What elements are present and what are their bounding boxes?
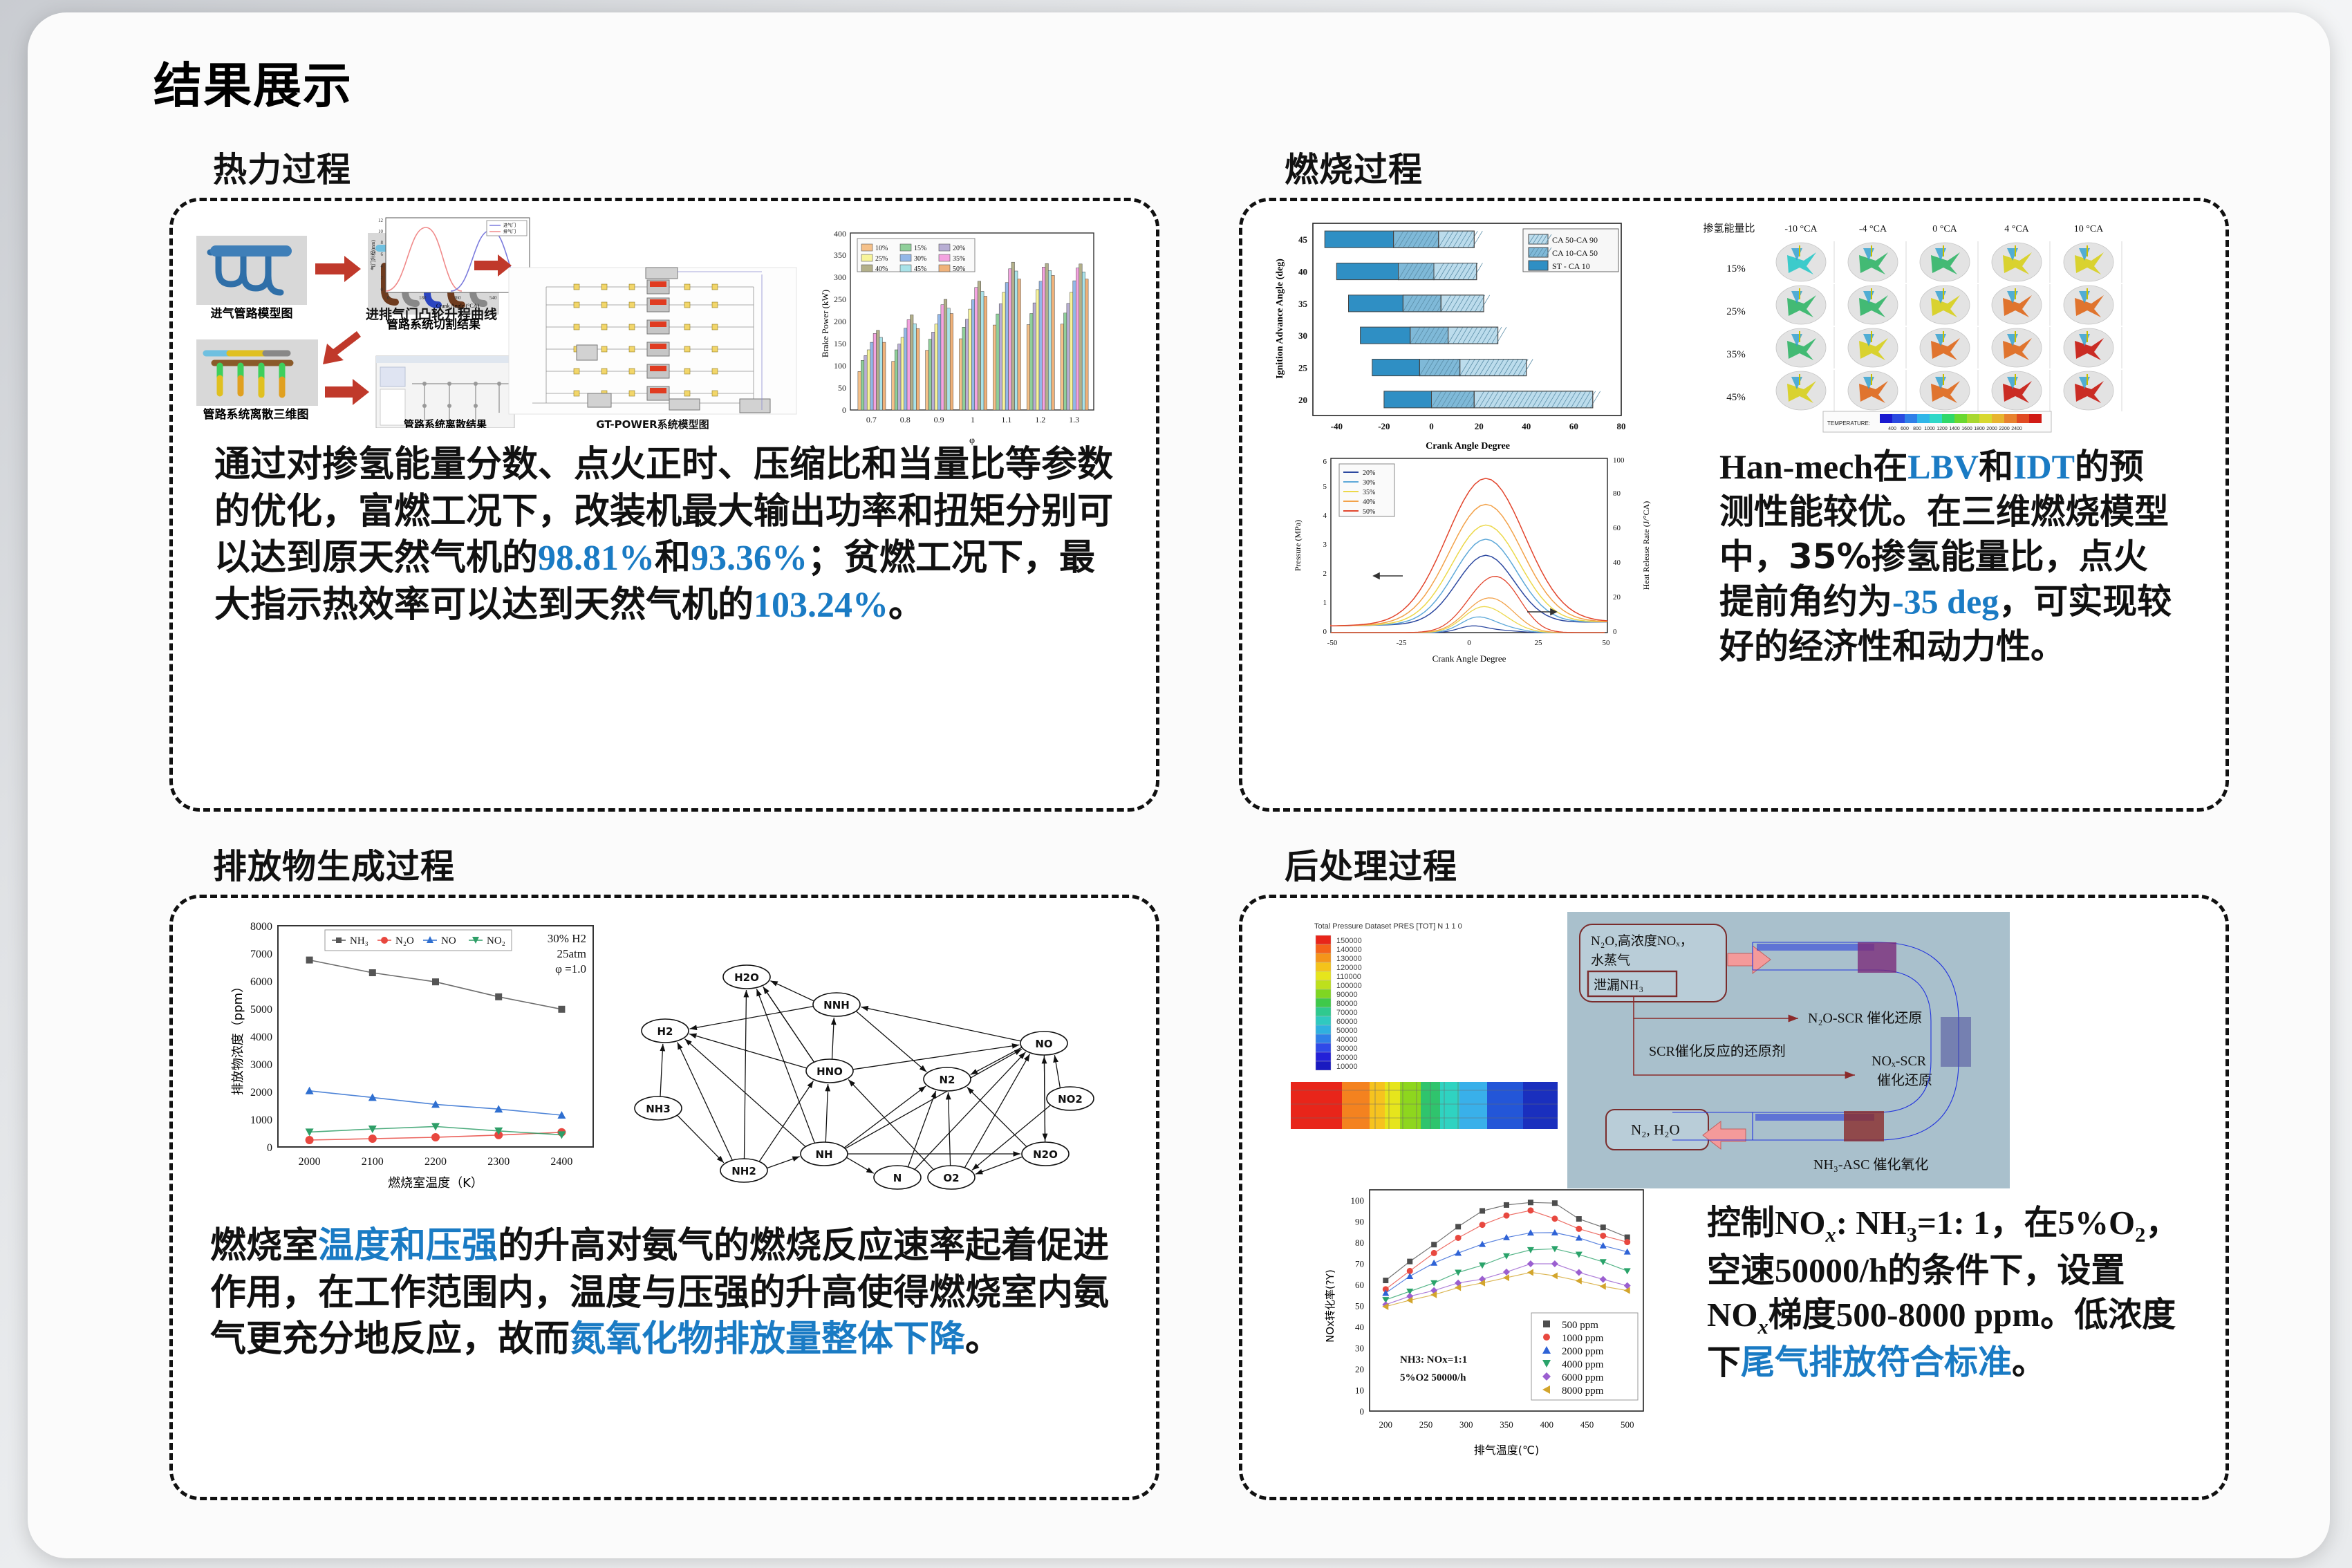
- svg-text:45%: 45%: [914, 265, 926, 273]
- svg-text:20000: 20000: [1336, 1054, 1358, 1062]
- svg-text:4000 ppm: 4000 ppm: [1562, 1359, 1604, 1370]
- svg-text:90: 90: [1355, 1217, 1364, 1227]
- thermo-text-mid1: 和: [655, 537, 691, 579]
- svg-text:300: 300: [834, 272, 846, 282]
- svg-text:0: 0: [1323, 628, 1327, 636]
- svg-text:120000: 120000: [1336, 964, 1362, 972]
- svg-text:360: 360: [454, 295, 461, 301]
- chart-emission-vs-temp: 010002000300040005000600070008000 200021…: [221, 913, 622, 1204]
- svg-text:4000: 4000: [250, 1032, 272, 1043]
- colorbar-label: TEMPERATURE:: [1827, 420, 1870, 427]
- emission-hl-temp-pressure: 温度和压强: [318, 1225, 498, 1267]
- svg-text:7000: 7000: [250, 949, 272, 960]
- svg-text:200: 200: [1379, 1419, 1393, 1430]
- svg-text:NO: NO: [1035, 1038, 1052, 1050]
- svg-text:1200: 1200: [1936, 427, 1948, 431]
- svg-text:-10 °CA: -10 °CA: [1784, 224, 1818, 234]
- caption-cam-lift: 进排气门凸轮升程曲线: [366, 306, 497, 322]
- svg-text:N2: N2: [940, 1074, 955, 1086]
- svg-text:1.1: 1.1: [1001, 415, 1011, 424]
- pressure-legend-title: Total Pressure Dataset PRES [TOT] N 1 1 …: [1314, 922, 1462, 931]
- svg-text:50%: 50%: [953, 265, 965, 273]
- slide-canvas: 结果展示 热力过程 进气管路模型图: [28, 12, 2330, 1558]
- svg-text:4: 4: [381, 263, 384, 269]
- svg-text:1000: 1000: [250, 1114, 272, 1126]
- svg-text:10000: 10000: [1336, 1063, 1358, 1071]
- cam-legend-exhaust: 排气门: [503, 229, 516, 234]
- svg-text:35%: 35%: [1726, 349, 1746, 360]
- svg-text:-25: -25: [1397, 639, 1407, 647]
- svg-text:20%: 20%: [1363, 469, 1375, 477]
- fig-temperature-contours: 掺氢能量比-10 °CA-4 °CA0 °CA4 °CA10 °CA 15%25…: [1685, 212, 2169, 440]
- ignition-ylabel: Ignition Advance Angle (deg): [1275, 259, 1285, 379]
- svg-text:8000: 8000: [250, 921, 272, 933]
- svg-text:500 ppm: 500 ppm: [1562, 1320, 1598, 1331]
- scr-inlet-line2: 水蒸气: [1591, 953, 1630, 968]
- svg-text:0: 0: [381, 287, 384, 292]
- svg-text:NH₃: NH₃: [350, 935, 368, 946]
- svg-text:2000: 2000: [1986, 427, 1997, 431]
- scr-nox-label-l1: NOₓ-SCR: [1872, 1054, 1927, 1069]
- svg-text:0.8: 0.8: [900, 415, 911, 424]
- svg-text:20: 20: [1355, 1364, 1364, 1374]
- panel-combustion-body: Ignition Advance Angle (deg) 20253035404…: [1242, 201, 2225, 808]
- paragraph-aftertreatment: 控制NOx: NH3=1: 1，在5%O2，空速50000/h的条件下，设置NO…: [1707, 1201, 2184, 1385]
- svg-text:50: 50: [1603, 639, 1611, 647]
- svg-text:10: 10: [378, 229, 384, 234]
- svg-text:1.3: 1.3: [1069, 415, 1079, 424]
- svg-text:CA 10-CA 50: CA 10-CA 50: [1552, 248, 1598, 258]
- panel-emission-body: 010002000300040005000600070008000 200021…: [173, 898, 1156, 1497]
- svg-text:300: 300: [1459, 1419, 1473, 1430]
- svg-text:NO: NO: [441, 935, 456, 946]
- caption-gtpower: GT-POWER系统模型图: [596, 418, 709, 431]
- svg-text:15%: 15%: [914, 245, 926, 252]
- svg-text:180: 180: [419, 295, 427, 301]
- svg-text:40%: 40%: [1363, 498, 1375, 506]
- svg-text:540: 540: [489, 295, 497, 301]
- svg-text:80000: 80000: [1336, 1000, 1358, 1008]
- svg-text:NH2: NH2: [731, 1165, 756, 1177]
- svg-text:80: 80: [1613, 489, 1621, 498]
- svg-text:80: 80: [1617, 421, 1626, 431]
- svg-text:20: 20: [1475, 421, 1484, 431]
- svg-text:40%: 40%: [875, 265, 888, 273]
- svg-text:5000: 5000: [250, 1004, 272, 1016]
- phrr-xlabel: Crank Angle Degree: [1432, 653, 1506, 664]
- chart-nox-conversion: 0102030405060708090100 20025030035040045…: [1303, 1175, 1690, 1472]
- svg-text:600: 600: [1901, 427, 1909, 431]
- panel-aftertreatment-body: Total Pressure Dataset PRES [TOT] N 1 1 …: [1242, 898, 2225, 1497]
- svg-text:NH3: NOx=1:1: NH3: NOx=1:1: [1400, 1354, 1467, 1365]
- svg-text:1600: 1600: [1961, 427, 1972, 431]
- svg-text:45: 45: [1298, 234, 1308, 245]
- svg-text:1000 ppm: 1000 ppm: [1562, 1333, 1604, 1344]
- svg-text:5%O2 50000/h: 5%O2 50000/h: [1400, 1372, 1466, 1383]
- svg-text:1: 1: [971, 415, 975, 424]
- svg-text:2000: 2000: [299, 1156, 321, 1168]
- svg-text:NH3: NH3: [646, 1103, 671, 1115]
- svg-text:100: 100: [1351, 1195, 1365, 1206]
- svg-text:200: 200: [834, 317, 846, 326]
- svg-text:250: 250: [1419, 1419, 1433, 1430]
- svg-text:8000 ppm: 8000 ppm: [1562, 1385, 1604, 1397]
- svg-text:-20: -20: [1378, 421, 1390, 431]
- panel-emission: 010002000300040005000600070008000 200021…: [169, 895, 1159, 1500]
- svg-text:10 °CA: 10 °CA: [2074, 224, 2104, 234]
- svg-text:NH: NH: [815, 1148, 832, 1161]
- scr-inlet-line3: 泄漏NH₃: [1594, 978, 1643, 993]
- svg-text:掺氢能量比: 掺氢能量比: [1703, 223, 1755, 234]
- svg-text:100: 100: [834, 361, 846, 371]
- svg-text:60: 60: [1355, 1280, 1364, 1290]
- svg-text:25%: 25%: [875, 255, 888, 263]
- fig-reaction-network: H2ONNHH2NOHNON2NO2NH3NHNO2N2ONH2: [622, 934, 1106, 1211]
- svg-text:2200: 2200: [424, 1156, 447, 1168]
- emission-text-post: 。: [965, 1318, 1001, 1360]
- svg-text:400: 400: [834, 229, 846, 239]
- svg-text:10%: 10%: [875, 245, 888, 252]
- svg-text:NO₂: NO₂: [487, 935, 505, 946]
- svg-text:-50: -50: [1327, 639, 1338, 647]
- paragraph-thermo: 通过对掺氢能量分数、点火正时、压缩比和当量比等参数的优化，富燃工况下，改装机最大…: [214, 442, 1120, 628]
- svg-text:90000: 90000: [1336, 991, 1358, 999]
- panel-aftertreatment: Total Pressure Dataset PRES [TOT] N 1 1 …: [1239, 895, 2229, 1500]
- scr-outlet-box: N₂, H₂O: [1631, 1121, 1680, 1138]
- panel-thermo: 进气管路模型图 管路系统切割结果: [169, 198, 1159, 812]
- svg-text:450: 450: [1580, 1419, 1594, 1430]
- cam-chart-ylabel: 气门升程(mm): [370, 240, 376, 270]
- svg-text:2000: 2000: [250, 1087, 272, 1099]
- svg-text:60000: 60000: [1336, 1018, 1358, 1026]
- svg-text:2300: 2300: [487, 1156, 510, 1168]
- svg-text:CA 50-CA 90: CA 50-CA 90: [1552, 235, 1598, 245]
- phrr-ylabel: Pressure (MPa): [1293, 520, 1303, 571]
- svg-text:800: 800: [1913, 427, 1921, 431]
- scr-reductant-label: SCR催化反应的还原剂: [1649, 1043, 1786, 1059]
- panel-thermo-body: 进气管路模型图 管路系统切割结果: [173, 201, 1156, 808]
- svg-text:15%: 15%: [1726, 263, 1746, 274]
- svg-text:HNO: HNO: [816, 1065, 843, 1078]
- svg-text:NNH: NNH: [823, 999, 850, 1011]
- svg-text:N: N: [893, 1172, 902, 1184]
- svg-text:2200: 2200: [1999, 427, 2010, 431]
- combustion-hl-lbv: LBV: [1907, 447, 1979, 486]
- fig-scr-schematic: N₂O,高浓度NOₓ， 水蒸气 泄漏NH₃ N₂O-SCR 催化还原 SCR催化…: [1567, 912, 2010, 1188]
- svg-text:1800: 1800: [1974, 427, 1985, 431]
- svg-text:2: 2: [381, 275, 384, 281]
- svg-text:0 °CA: 0 °CA: [1932, 224, 1957, 234]
- svg-text:0.9: 0.9: [934, 415, 944, 424]
- thermo-hl-efficiency: 103.24%: [754, 586, 888, 625]
- svg-text:30%: 30%: [1363, 479, 1375, 487]
- scr-nox-label-l2: 催化还原: [1877, 1072, 1932, 1088]
- svg-text:50: 50: [1355, 1301, 1364, 1312]
- svg-text:0: 0: [1613, 628, 1617, 636]
- svg-text:5: 5: [1323, 483, 1327, 491]
- after-hl-standard: 尾气排放符合标准: [1741, 1343, 2012, 1382]
- svg-text:150: 150: [834, 339, 846, 348]
- svg-text:40: 40: [1298, 267, 1307, 277]
- svg-text:35%: 35%: [953, 255, 965, 263]
- svg-text:30: 30: [1355, 1343, 1364, 1354]
- svg-text:2400: 2400: [550, 1156, 572, 1168]
- paragraph-combustion: Han-mech在LBV和IDT的预测性能较优。在三维燃烧模型中，35%掺氢能量…: [1719, 445, 2176, 669]
- svg-text:2100: 2100: [362, 1156, 384, 1168]
- svg-text:-4 °CA: -4 °CA: [1859, 224, 1887, 234]
- svg-text:150000: 150000: [1336, 937, 1362, 945]
- svg-text:350: 350: [1500, 1419, 1513, 1430]
- svg-text:12: 12: [378, 218, 384, 223]
- svg-text:1000: 1000: [1924, 427, 1935, 431]
- svg-text:N2O: N2O: [1033, 1148, 1058, 1161]
- svg-text:35: 35: [1298, 299, 1308, 309]
- svg-text:10: 10: [1355, 1385, 1364, 1396]
- emission-text-pre: 燃烧室: [210, 1225, 318, 1267]
- brake-power-ylabel: Brake Power (kW): [820, 290, 830, 357]
- svg-text:1400: 1400: [1949, 427, 1960, 431]
- svg-text:NO2: NO2: [1058, 1093, 1083, 1105]
- svg-text:35%: 35%: [1363, 489, 1375, 496]
- svg-text:40: 40: [1355, 1322, 1364, 1332]
- svg-text:20: 20: [1613, 593, 1621, 601]
- scr-n2o-label: N₂O-SCR 催化还原: [1808, 1010, 1922, 1026]
- svg-text:80: 80: [1355, 1238, 1364, 1248]
- thermo-text-post: 。: [888, 584, 924, 626]
- svg-text:140000: 140000: [1336, 946, 1362, 954]
- svg-text:8: 8: [381, 240, 384, 245]
- thermo-hl-power: 98.81%: [538, 539, 655, 578]
- svg-text:4 °CA: 4 °CA: [2004, 224, 2029, 234]
- svg-text:25: 25: [1298, 363, 1308, 373]
- svg-text:6: 6: [381, 252, 384, 257]
- svg-text:40000: 40000: [1336, 1036, 1358, 1044]
- svg-text:110000: 110000: [1336, 973, 1361, 981]
- svg-text:2400: 2400: [2011, 427, 2022, 431]
- svg-text:50%: 50%: [1363, 508, 1375, 516]
- after-text-post: 。: [2012, 1343, 2046, 1382]
- svg-text:2: 2: [1323, 570, 1327, 578]
- cam-legend-intake: 进气门: [503, 223, 516, 228]
- svg-text:40: 40: [1522, 421, 1531, 431]
- svg-text:H2: H2: [657, 1025, 673, 1038]
- svg-text:0: 0: [267, 1142, 272, 1154]
- phrr-y2label: Heat Release Rate (J/°CA): [1641, 501, 1651, 590]
- svg-text:N₂O: N₂O: [395, 935, 414, 946]
- svg-text:-40: -40: [1331, 421, 1343, 431]
- svg-text:45%: 45%: [1726, 392, 1746, 403]
- scr-asc-label: NH₃-ASC 催化氧化: [1813, 1157, 1928, 1173]
- combustion-text-mid1: 和: [1979, 447, 2013, 487]
- svg-text:30%: 30%: [914, 255, 926, 263]
- svg-text:O2: O2: [943, 1172, 959, 1184]
- svg-text:3: 3: [1323, 541, 1327, 549]
- svg-text:4: 4: [1323, 512, 1327, 520]
- svg-text:0: 0: [1360, 1406, 1365, 1417]
- svg-text:30000: 30000: [1336, 1045, 1358, 1053]
- scr-inlet-line1: N₂O,高浓度NOₓ，: [1591, 933, 1693, 949]
- chart-pressure-hrr: 012 3456 02040 6080100 -50-250 2550 Pres…: [1281, 449, 1668, 677]
- combustion-text-pre: Han-mech在: [1719, 447, 1907, 486]
- emission-xlabel: 燃烧室温度（K）: [388, 1176, 483, 1191]
- svg-text:500: 500: [1621, 1419, 1634, 1430]
- svg-text:50: 50: [838, 383, 846, 393]
- svg-text:6: 6: [1323, 458, 1327, 466]
- svg-text:25%: 25%: [1726, 306, 1746, 317]
- caption-discrete-result: 管路系统离散结果: [404, 418, 487, 428]
- svg-text:H2O: H2O: [734, 971, 759, 984]
- svg-text:20: 20: [1298, 395, 1307, 405]
- page-title: 结果展示: [153, 47, 353, 117]
- svg-text:70: 70: [1355, 1259, 1364, 1269]
- caption-intake-model: 进气管路模型图: [211, 306, 293, 321]
- panel-combustion: Ignition Advance Angle (deg) 20253035404…: [1239, 198, 2229, 812]
- svg-text:20%: 20%: [953, 245, 965, 252]
- svg-text:6000 ppm: 6000 ppm: [1562, 1372, 1604, 1383]
- svg-text:250: 250: [834, 295, 846, 304]
- fig-total-pressure: Total Pressure Dataset PRES [TOT] N 1 1 …: [1285, 916, 1576, 1206]
- svg-text:40: 40: [1613, 559, 1621, 567]
- section-title-aftertreatment: 后处理过程: [1285, 839, 1457, 888]
- svg-text:60: 60: [1613, 524, 1621, 532]
- chart-ignition-advance: Ignition Advance Angle (deg) 20253035404…: [1267, 215, 1654, 457]
- svg-text:0: 0: [1467, 639, 1471, 647]
- svg-text:400: 400: [1540, 1419, 1553, 1430]
- svg-text:30% H2: 30% H2: [548, 932, 586, 945]
- svg-text:6000: 6000: [250, 976, 272, 988]
- svg-text:100000: 100000: [1336, 982, 1362, 990]
- svg-text:1.2: 1.2: [1035, 415, 1045, 424]
- svg-text:100: 100: [1613, 456, 1625, 465]
- thermo-hl-torque: 93.36%: [691, 539, 808, 578]
- svg-text:130000: 130000: [1336, 955, 1362, 963]
- combustion-hl-idt: IDT: [2013, 447, 2075, 486]
- svg-text:ST - CA 10: ST - CA 10: [1552, 261, 1590, 271]
- svg-text:50000: 50000: [1336, 1027, 1358, 1035]
- nox-xlabel: 排气温度(℃): [1474, 1444, 1539, 1457]
- emission-hl-nox-down: 氮氧化物排放量整体下降: [570, 1318, 965, 1360]
- svg-text:0: 0: [387, 295, 390, 301]
- nox-ylabel: NOx转化率(?Y): [1324, 1269, 1336, 1343]
- chart-brake-power: 050100 150200250 300350400 Brake Power (…: [814, 223, 1112, 451]
- emission-ylabel: 排放物浓度（ppm）: [231, 980, 245, 1095]
- svg-text:0: 0: [842, 405, 846, 415]
- svg-text:0: 0: [1429, 421, 1434, 431]
- svg-text:60: 60: [1569, 421, 1578, 431]
- section-title-emission: 排放物生成过程: [213, 839, 455, 888]
- svg-text:0.7: 0.7: [866, 415, 877, 424]
- combustion-hl-deg: -35 deg: [1892, 582, 1999, 621]
- svg-text:30: 30: [1298, 330, 1307, 341]
- svg-text:400: 400: [1888, 427, 1896, 431]
- svg-text:2000 ppm: 2000 ppm: [1562, 1346, 1604, 1357]
- svg-text:φ =1.0: φ =1.0: [555, 962, 586, 976]
- section-title-combustion: 燃烧过程: [1285, 142, 1423, 192]
- svg-text:25: 25: [1535, 639, 1543, 647]
- svg-text:25atm: 25atm: [557, 947, 587, 960]
- svg-text:350: 350: [834, 250, 846, 260]
- svg-text:70000: 70000: [1336, 1009, 1358, 1017]
- fig-gtpower-model: GT-POWER系统模型图: [505, 263, 802, 436]
- caption-discrete-3d: 管路系统离散三维图: [203, 407, 309, 422]
- paragraph-emission: 燃烧室温度和压强的升高对氨气的燃烧反应速率起着促进作用，在工作范围内，温度与压强…: [210, 1223, 1130, 1363]
- svg-text:3000: 3000: [250, 1059, 272, 1071]
- section-title-thermo: 热力过程: [213, 142, 351, 192]
- svg-text:1: 1: [1323, 599, 1327, 607]
